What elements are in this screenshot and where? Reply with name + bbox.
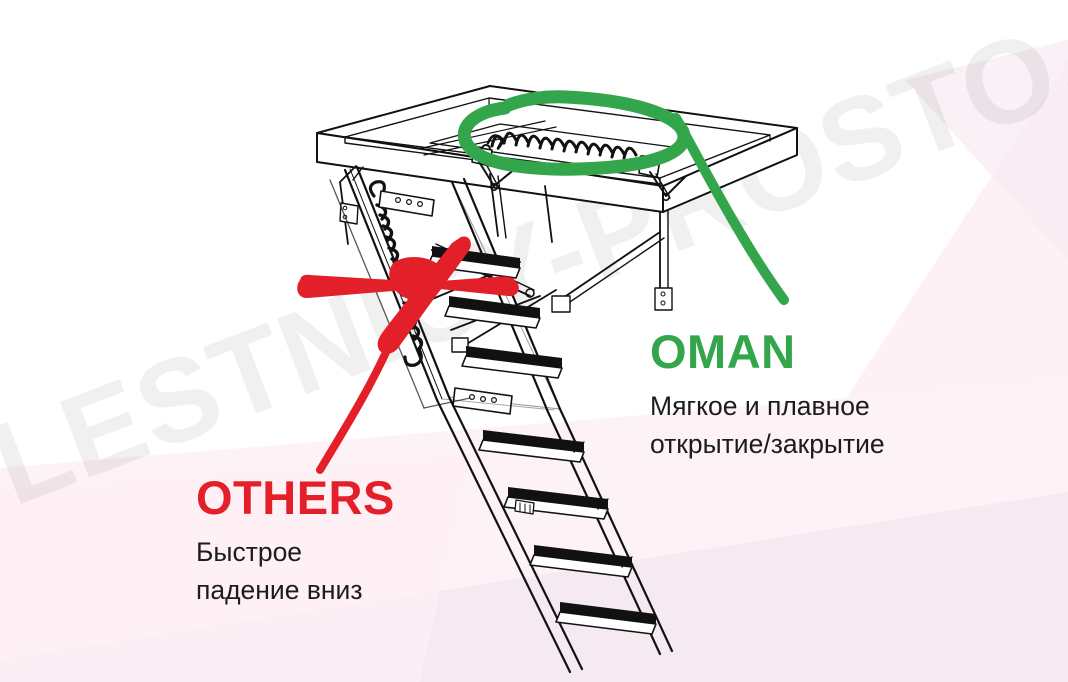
others-label-block: OTHERS Быстрое падение вниз bbox=[196, 474, 556, 609]
illustration-canvas: LESTNICY-PROSTO.RU bbox=[0, 0, 1068, 682]
oman-brand-title: OMAN bbox=[650, 328, 1030, 377]
oman-description-line-1: Мягкое и плавное bbox=[650, 387, 1030, 425]
others-description-line-2: падение вниз bbox=[196, 571, 556, 609]
oman-label-block: OMAN Мягкое и плавное открытие/закрытие bbox=[650, 328, 1030, 463]
others-description: Быстрое падение вниз bbox=[196, 533, 556, 609]
oman-description: Мягкое и плавное открытие/закрытие bbox=[650, 387, 1030, 463]
green-pointer-line bbox=[676, 118, 784, 300]
green-highlight-ellipse bbox=[464, 97, 684, 169]
others-brand-title: OTHERS bbox=[196, 474, 556, 523]
red-cross-mark bbox=[297, 236, 519, 353]
others-description-line-1: Быстрое bbox=[196, 533, 556, 571]
oman-description-line-2: открытие/закрытие bbox=[650, 425, 1030, 463]
red-pointer-line bbox=[320, 341, 391, 470]
